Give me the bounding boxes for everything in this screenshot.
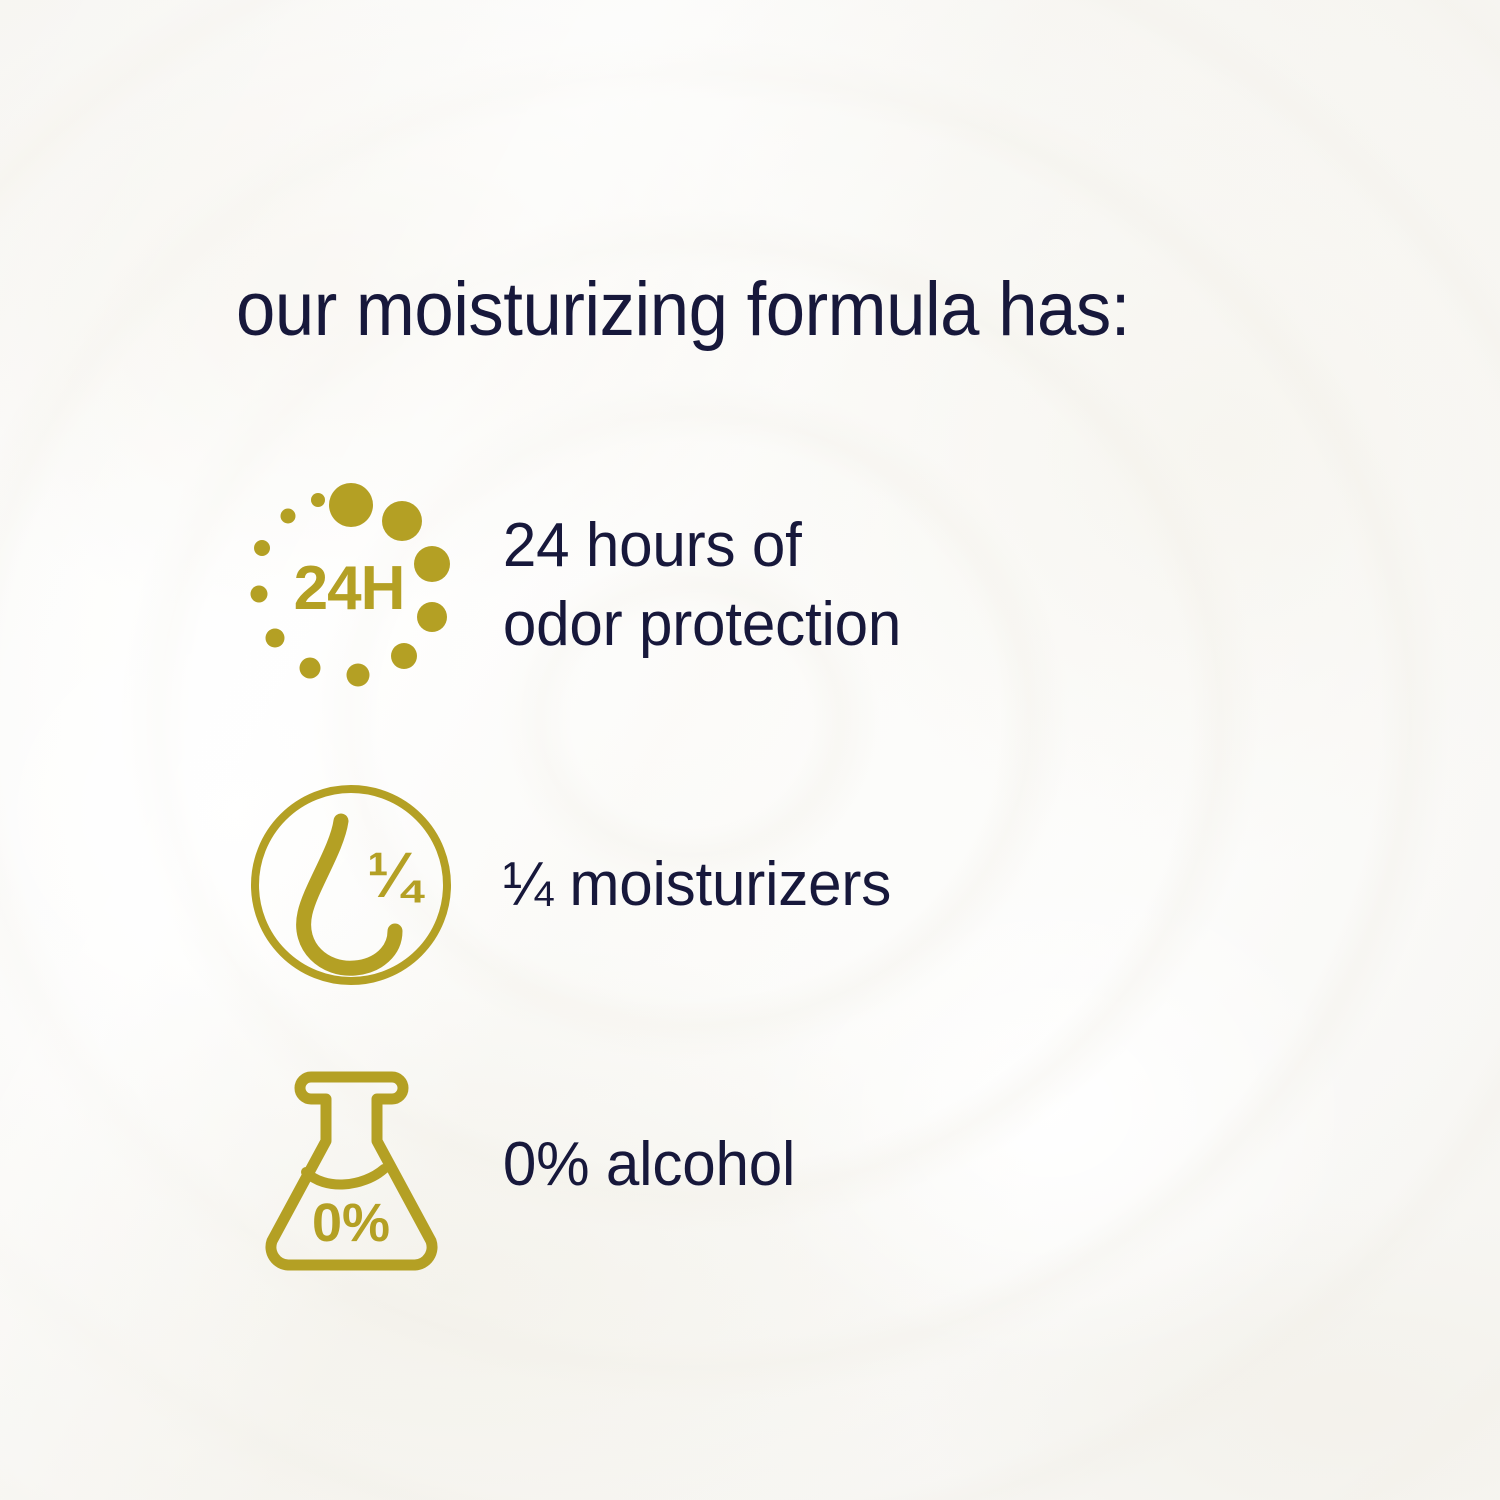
feature-icon-wrapper: ¼ xyxy=(236,779,466,991)
feature-label-line: 24 hours of xyxy=(503,506,1310,585)
feature-row: 24H 24 hours of odor protection xyxy=(236,465,1336,705)
feature-label-line: odor protection xyxy=(503,585,1310,664)
feature-label-line: 0% alcohol xyxy=(503,1125,1310,1204)
product-benefits-poster: our moisturizing formula has: xyxy=(0,0,1500,1500)
feature-label: ¼ moisturizers xyxy=(466,845,1310,924)
page-title: our moisturizing formula has: xyxy=(236,272,1306,348)
feature-label: 24 hours of odor protection xyxy=(466,506,1310,665)
droplet-quarter-icon: ¼ xyxy=(245,779,457,991)
quarter-icon-label: ¼ xyxy=(367,839,425,911)
feature-label-line: ¼ moisturizers xyxy=(503,845,1310,924)
feature-label: 0% alcohol xyxy=(466,1125,1310,1204)
feature-icon-wrapper: 0% xyxy=(236,1059,466,1271)
24h-icon-label: 24H xyxy=(294,554,405,623)
24h-dots-icon: 24H xyxy=(246,478,456,693)
flask-zero-percent-icon: 0% xyxy=(259,1059,444,1271)
feature-row: 0% 0% alcohol xyxy=(236,1050,1336,1280)
feature-row: ¼ ¼ moisturizers xyxy=(236,765,1336,1005)
zero-percent-icon-label: 0% xyxy=(311,1193,389,1253)
feature-icon-wrapper: 24H xyxy=(236,478,466,693)
